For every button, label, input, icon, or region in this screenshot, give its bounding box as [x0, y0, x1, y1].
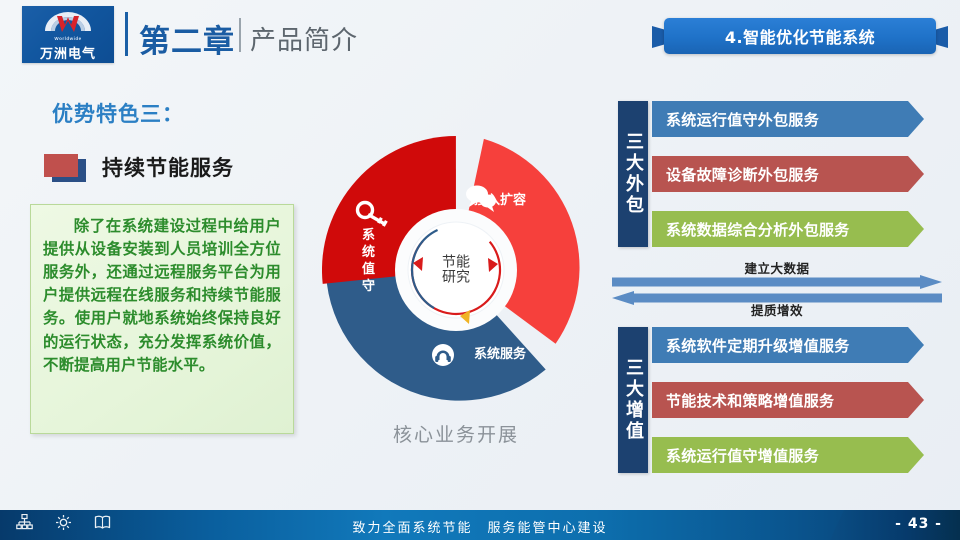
headset-icon [432, 344, 454, 366]
chart-caption: 核心业务开展 [322, 420, 590, 447]
bullet-heading-row: 持续节能服务 [44, 152, 234, 182]
description-callout: 除了在系统建设过程中给用户提供从设备安装到人员培训全方位服务外，还通过远程服务平… [30, 204, 294, 434]
logo-emblem-icon [41, 9, 95, 35]
bullet-heading-label: 持续节能服务 [102, 152, 234, 182]
section-banner: 4.智能优化节能系统 [664, 18, 936, 54]
arrow-right-icon [612, 275, 942, 289]
chapter-title: 第二章 [139, 16, 235, 61]
valueadd-item-2[interactable]: 系统运行值守增值服务 [652, 437, 924, 473]
company-logo: Worldwide 万洲电气 [22, 6, 114, 63]
outsourcing-item-1[interactable]: 设备故障诊断外包服务 [652, 156, 924, 192]
outsourcing-item-0[interactable]: 系统运行值守外包服务 [652, 101, 924, 137]
outsourcing-item-2[interactable]: 系统数据综合分析外包服务 [652, 211, 924, 247]
svg-text:统: 统 [362, 244, 375, 260]
donut-label-2: 系统服务 [474, 346, 527, 362]
feature-heading: 优势特色三： [52, 98, 184, 128]
footer-page-number: - 43 - [895, 516, 942, 532]
donut-center-line2: 研究 [442, 270, 470, 285]
donut-center-line1: 节能 [442, 255, 470, 270]
footer-slogan: 致力全面系统节能 服务能管中心建设 [0, 517, 960, 536]
svg-text:值: 值 [362, 261, 375, 277]
header-separator [239, 18, 241, 52]
svg-text:守: 守 [362, 278, 375, 294]
footer-bar: 致力全面系统节能 服务能管中心建设 - 43 - [0, 510, 960, 540]
valueadd-item-1[interactable]: 节能技术和策略增值服务 [652, 382, 924, 418]
description-text: 除了在系统建设过程中给用户提供从设备安装到人员培训全方位服务外，还通过远程服务平… [43, 215, 281, 377]
donut-center-label: 节能 研究 [442, 255, 470, 284]
square-bullet-icon [44, 154, 84, 181]
slide-root: Worldwide 万洲电气 第二章 产品简介 优势特色三： 持续节能服务 除了… [0, 0, 960, 540]
banner-wing-right [934, 26, 948, 48]
header-accent-bar [125, 12, 128, 56]
logo-sub-text: Worldwide [54, 36, 81, 41]
core-business-donut-chart: 接入扩容 系统服务 系 统 值 守 节能 研究 [322, 136, 590, 404]
arrow-label-0: 建立大数据 [612, 258, 942, 277]
svg-text:系: 系 [362, 227, 375, 243]
arrow-label-1: 提质增效 [612, 300, 942, 319]
donut-label-0: 接入扩容 [474, 192, 526, 208]
valueadd-vertical-label: 三大增值 [618, 327, 648, 473]
page-title: 产品简介 [250, 20, 358, 57]
outsourcing-vertical-label: 三大外包 [618, 101, 648, 247]
valueadd-item-0[interactable]: 系统软件定期升级增值服务 [652, 327, 924, 363]
logo-company-name: 万洲电气 [40, 43, 96, 62]
